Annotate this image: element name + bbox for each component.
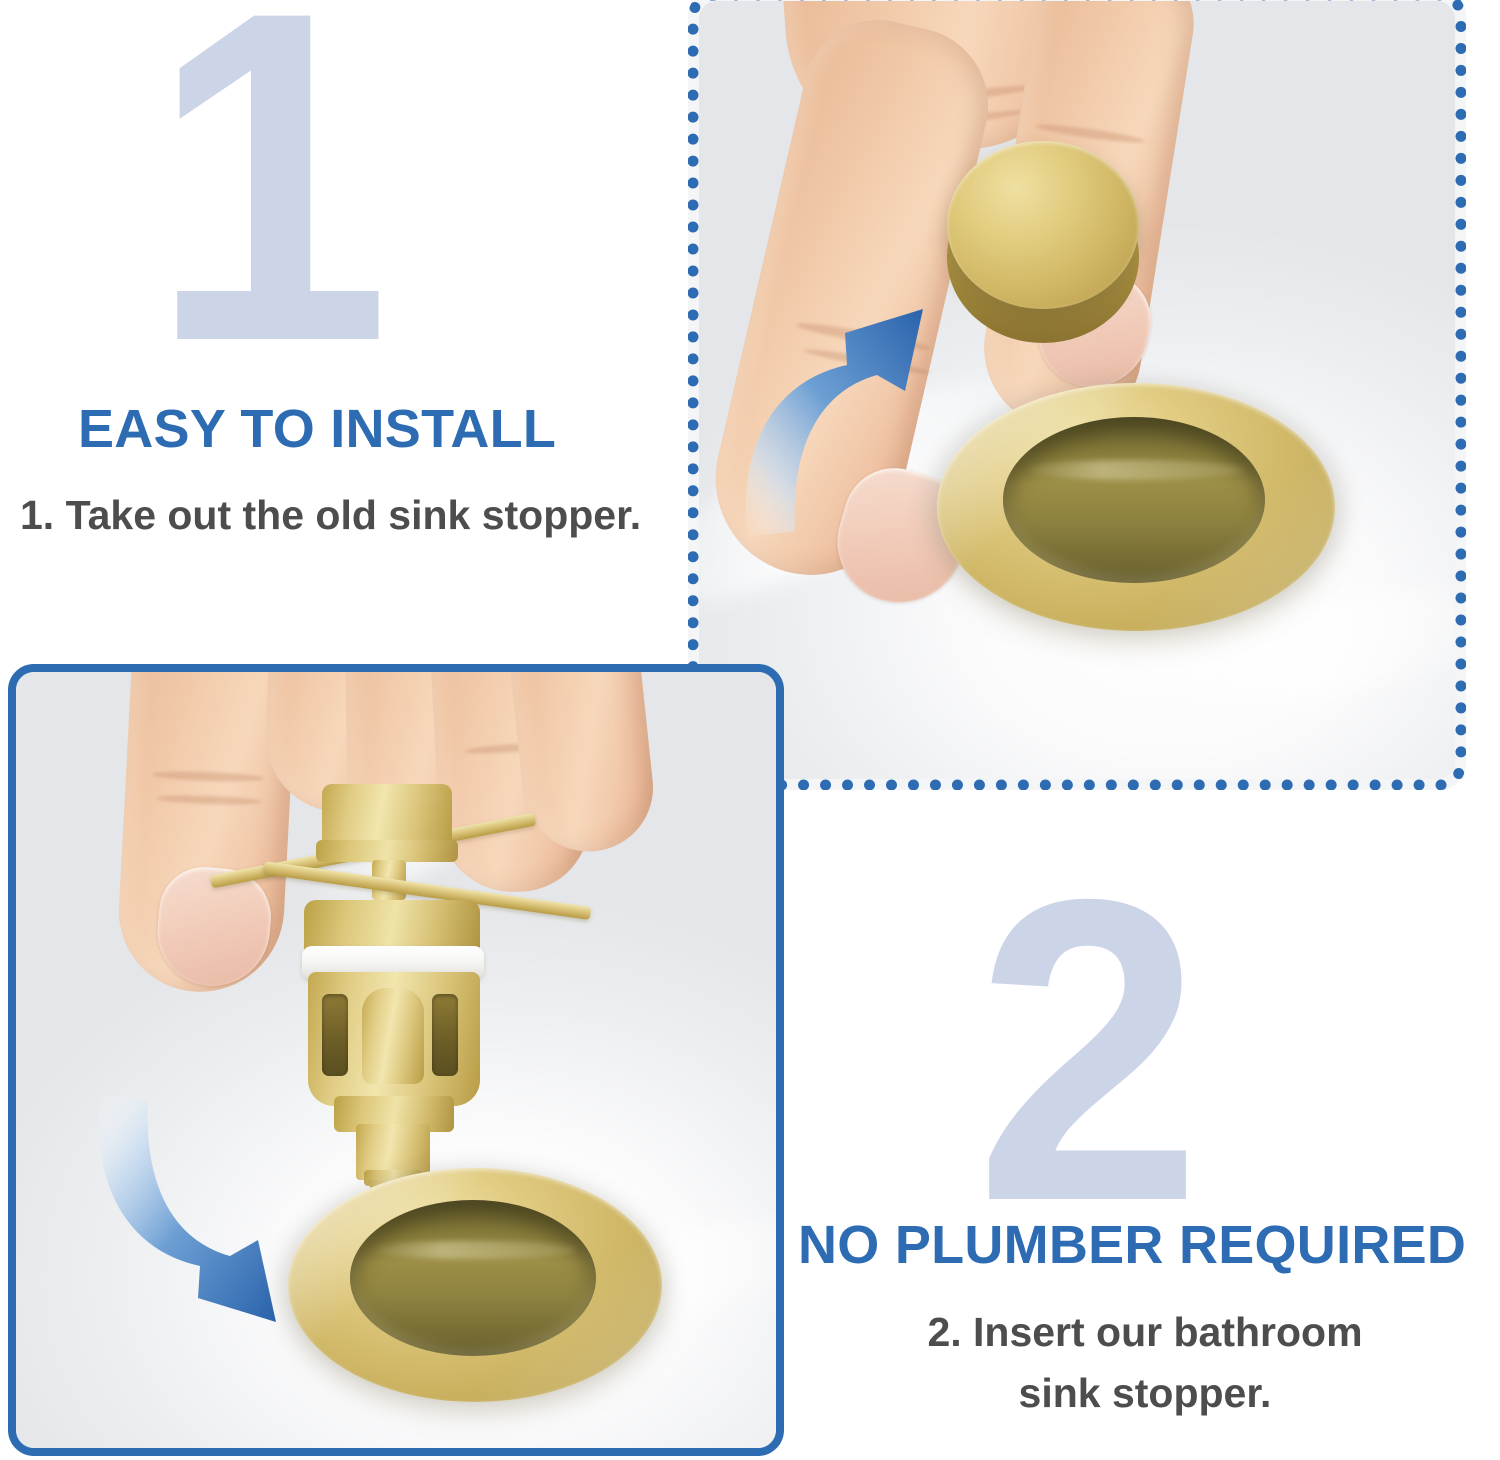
infographic-root: 1 EASY TO INSTALL 1. Take out the old si… (0, 0, 1500, 1460)
step-1-heading: EASY TO INSTALL (78, 398, 556, 460)
cap-top-face (947, 141, 1139, 309)
cage-slot-right (432, 994, 458, 1076)
step-2-body-line-2: sink stopper. (790, 1363, 1500, 1424)
step-1-text-block: 1 EASY TO INSTALL 1. Take out the old si… (0, 0, 680, 600)
step-1-photo-panel (688, 0, 1466, 790)
drain-bore (350, 1200, 596, 1356)
step-2-photo-panel (8, 664, 784, 1456)
step-1-number: 1 (150, 0, 382, 412)
drain-bore (1003, 417, 1265, 583)
step-1-body-text: 1. Take out the old sink stopper. (20, 492, 641, 539)
top-cap-cylinder (322, 784, 452, 846)
curved-arrow-down-right-icon (62, 1090, 312, 1340)
cap-shoulder (316, 840, 458, 862)
step-2-photo (16, 672, 776, 1448)
step-2-heading: NO PLUMBER REQUIRED (798, 1214, 1466, 1276)
step-2-number: 2 (975, 836, 1194, 1266)
cage-slot-left (322, 994, 348, 1076)
step-2-body-line-1: 2. Insert our bathroom (927, 1309, 1362, 1355)
cage-center-post (362, 988, 424, 1084)
step-1-photo (699, 1, 1455, 779)
step-2-text-block: 2 NO PLUMBER REQUIRED 2. Insert our bath… (790, 840, 1500, 1460)
step-2-body-text: 2. Insert our bathroom sink stopper. (790, 1302, 1500, 1423)
